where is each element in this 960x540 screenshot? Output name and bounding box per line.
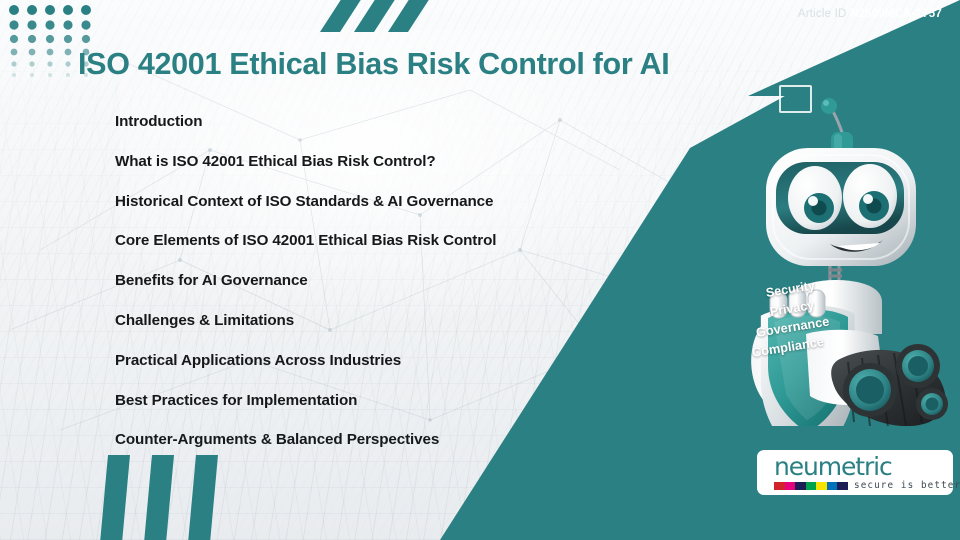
toc-item[interactable]: Historical Context of ISO Standards & AI… [115,194,675,209]
slide-canvas: Article ID N2509MCA-2757 ISO 42001 Ethic… [0,0,960,540]
toc-item[interactable]: Practical Applications Across Industries [115,353,675,368]
toc-item[interactable]: Challenges & Limitations [115,313,675,328]
toc-item[interactable]: What is ISO 42001 Ethical Bias Risk Cont… [115,154,675,169]
toc-item[interactable]: Counter-Arguments & Balanced Perspective… [115,432,675,447]
decorative-bars-top [320,0,430,32]
table-of-contents: Introduction What is ISO 42001 Ethical B… [115,114,675,472]
toc-item[interactable]: Core Elements of ISO 42001 Ethical Bias … [115,233,675,248]
toc-item[interactable]: Benefits for AI Governance [115,273,675,288]
article-id-label: Article ID [798,8,847,20]
neumetric-logo[interactable]: neumetric secure is better [757,450,953,495]
logo-wordmark: neumetric [774,454,960,479]
article-id: Article ID N2509MCA-2757 [798,8,942,20]
logo-tagline: secure is better [854,481,960,490]
logo-subrow: secure is better [774,481,960,490]
toc-item[interactable]: Introduction [115,114,675,129]
robot-mascot-illustration [718,96,960,426]
article-id-code: N2509MCA-2757 [850,8,942,20]
logo-text-group: neumetric secure is better [774,454,960,490]
page-title: ISO 42001 Ethical Bias Risk Control for … [78,47,669,82]
toc-item[interactable]: Best Practices for Implementation [115,393,675,408]
logo-color-bars [774,482,848,490]
